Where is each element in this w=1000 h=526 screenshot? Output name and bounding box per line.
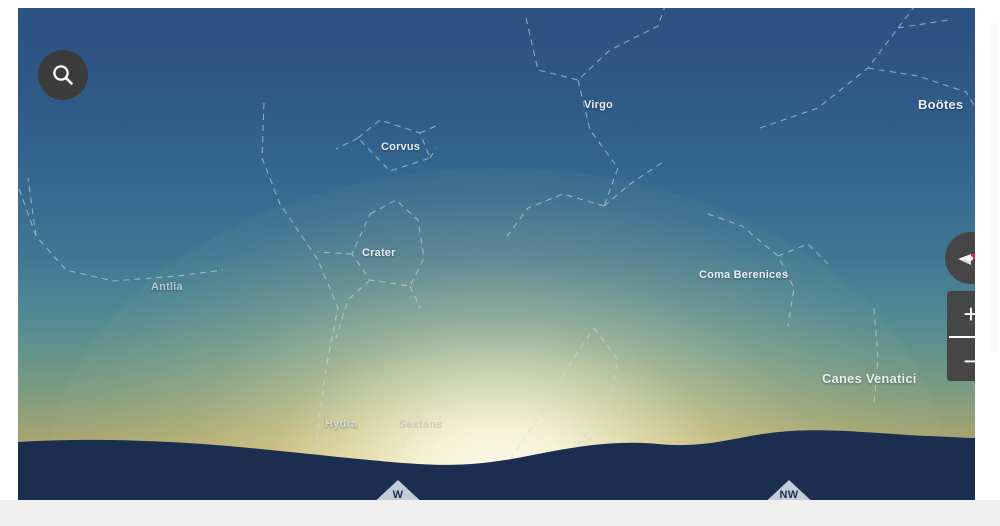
page-scrollbar-thumb[interactable] bbox=[989, 22, 998, 352]
search-button[interactable] bbox=[38, 50, 88, 100]
constellation-label-coma-berenices[interactable]: Coma Berenices bbox=[699, 269, 788, 281]
constellation-label-canes-venatici[interactable]: Canes Venatici bbox=[822, 371, 917, 386]
direction-label: NW bbox=[761, 489, 817, 500]
constellation-label-botes[interactable]: Boötes bbox=[918, 97, 963, 112]
direction-marker-nw: NW bbox=[761, 480, 817, 500]
top-cut-strip bbox=[0, 0, 1000, 8]
sky-map-page: AntliaCorvusCraterVirgoBoötesComa Bereni… bbox=[0, 0, 1000, 526]
constellation-label-antlia[interactable]: Antlia bbox=[151, 281, 183, 293]
horizon-silhouette bbox=[18, 420, 975, 500]
page-background bbox=[0, 500, 1000, 526]
constellation-label-crater[interactable]: Crater bbox=[362, 247, 396, 259]
zoom-controls[interactable]: + − bbox=[947, 291, 975, 381]
zoom-in-button[interactable]: + bbox=[947, 291, 975, 336]
zoom-out-button[interactable]: − bbox=[947, 338, 975, 381]
constellation-label-corvus[interactable]: Corvus bbox=[381, 141, 420, 153]
direction-label: W bbox=[370, 489, 426, 500]
compass-icon bbox=[954, 241, 975, 275]
direction-marker-w: W bbox=[370, 480, 426, 500]
night-sky-viewport[interactable]: AntliaCorvusCraterVirgoBoötesComa Bereni… bbox=[18, 8, 975, 500]
constellation-label-virgo[interactable]: Virgo bbox=[584, 99, 613, 111]
search-icon bbox=[50, 62, 76, 88]
page-scrollbar-track[interactable] bbox=[986, 8, 1000, 500]
